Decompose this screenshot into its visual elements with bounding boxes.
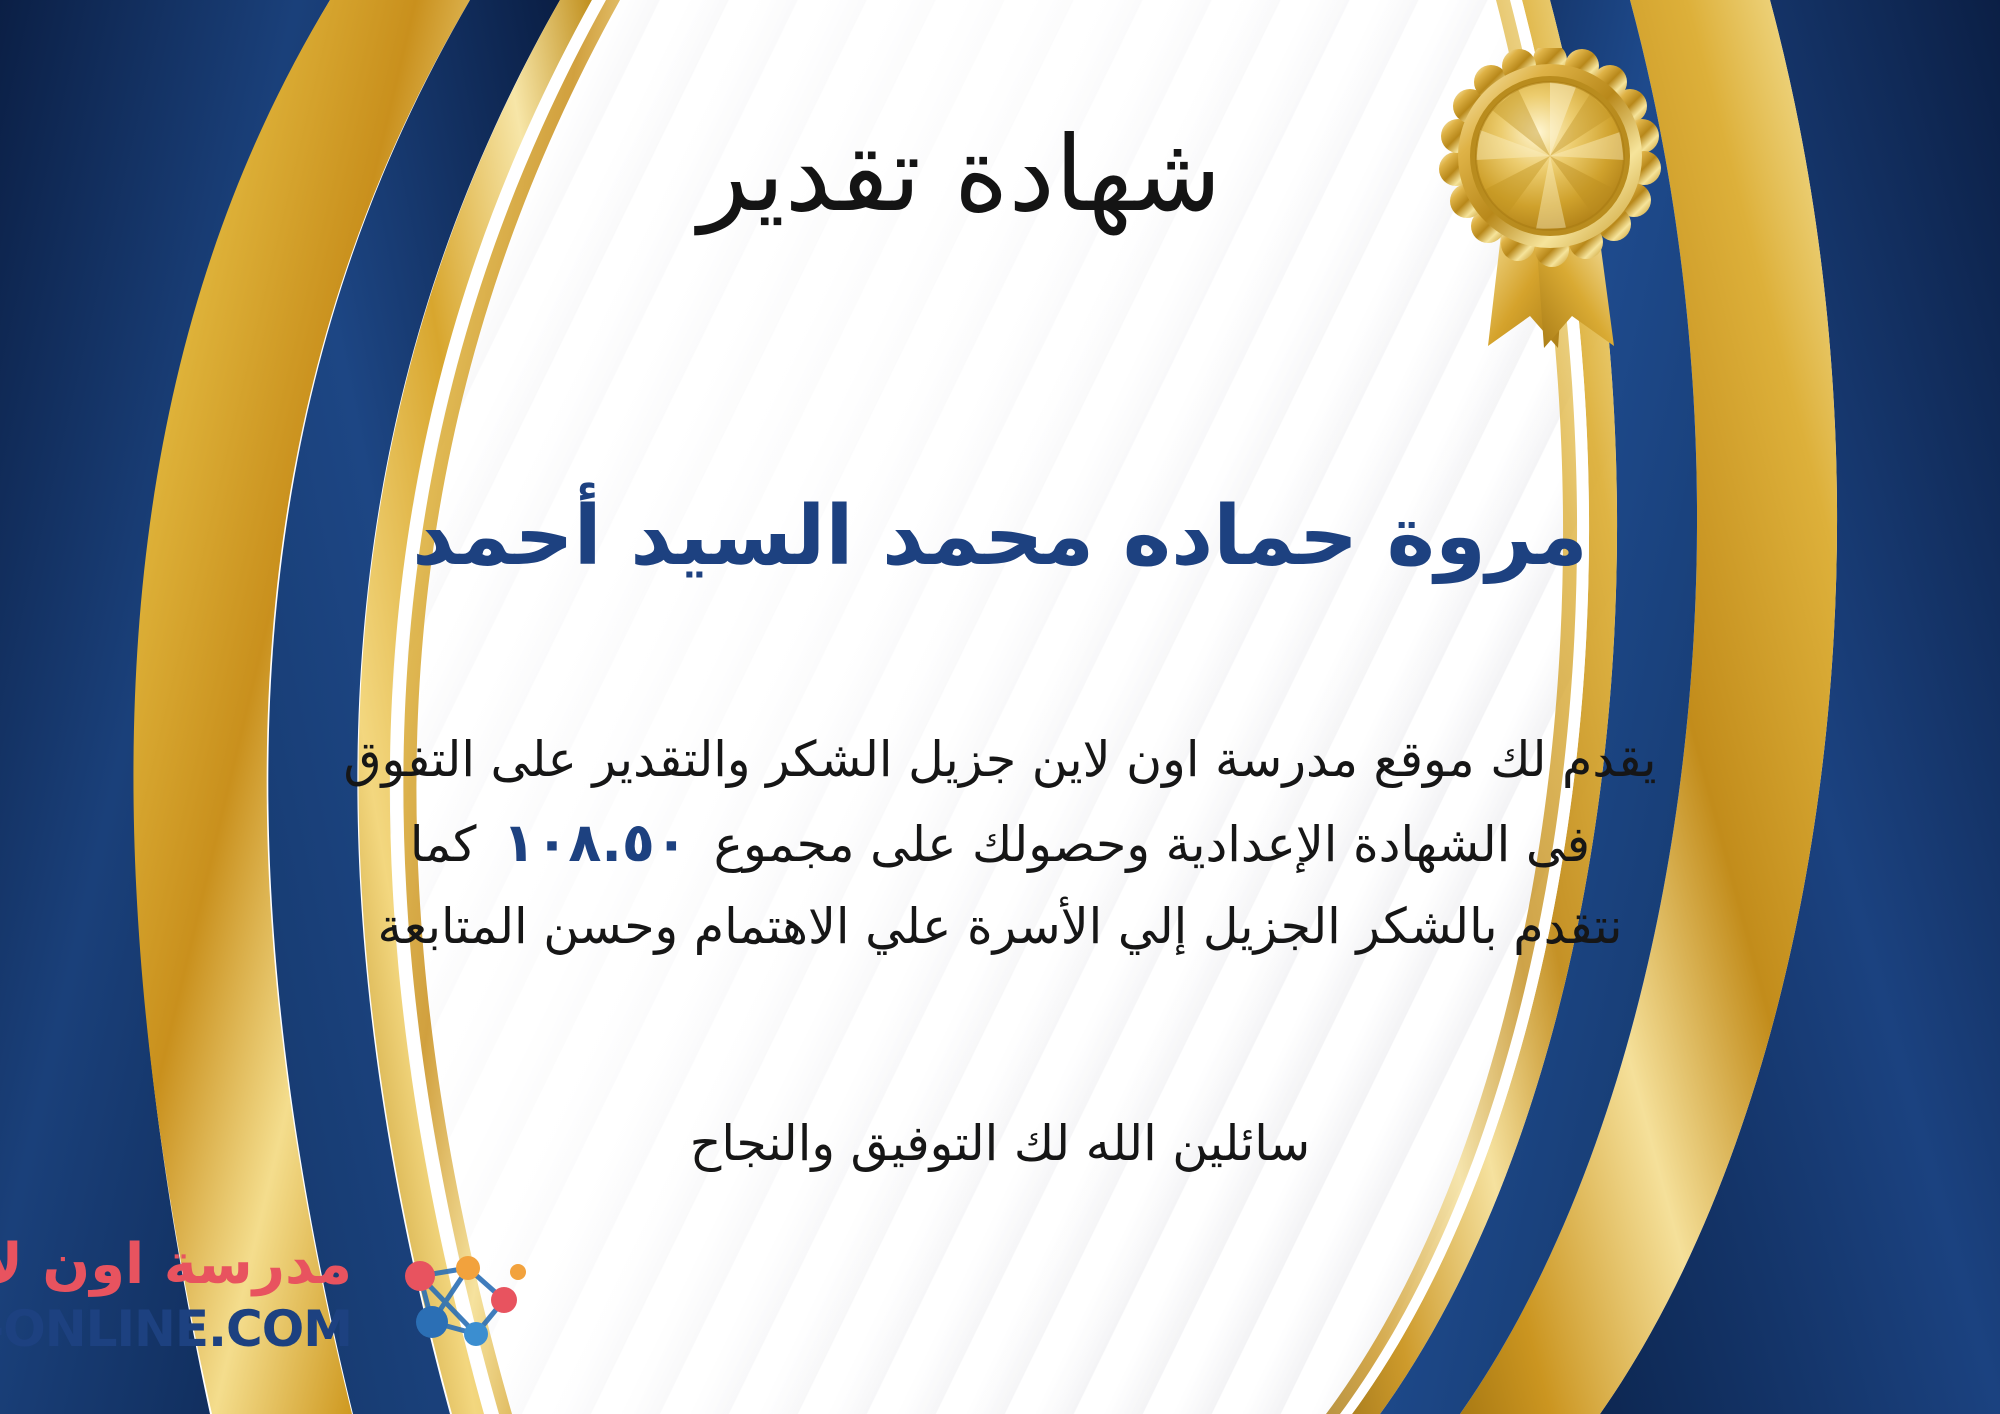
body-line-3: نتقدم بالشكر الجزيل إلي الأسرة علي الاهت… bbox=[40, 887, 1960, 966]
page-title: شهادة تقدير bbox=[150, 120, 1850, 229]
body-line-2-prefix: فى الشهادة الإعدادية وحصولك على مجموع bbox=[714, 816, 1590, 873]
total-score-value: ١٠٨.٥٠ bbox=[476, 811, 713, 874]
network-nodes-icon bbox=[372, 1246, 552, 1364]
site-logo[interactable]: مدرسة اون لاين MADRSA-ONLINE.COM bbox=[22, 1230, 582, 1380]
certificate-body: شهادة تقدير مروة حماده محمد السيد أحمد ي… bbox=[150, 0, 1850, 1414]
brand-arabic-name: مدرسة اون لاين bbox=[0, 1232, 352, 1297]
certificate-canvas: شهادة تقدير مروة حماده محمد السيد أحمد ي… bbox=[0, 0, 2000, 1414]
body-line-2: فى الشهادة الإعدادية وحصولك على مجموع١٠٨… bbox=[40, 799, 1960, 886]
appreciation-paragraph: يقدم لك موقع مدرسة اون لاين جزيل الشكر و… bbox=[40, 720, 1960, 966]
body-line-1: يقدم لك موقع مدرسة اون لاين جزيل الشكر و… bbox=[40, 720, 1960, 799]
recipient-name: مروة حماده محمد السيد أحمد bbox=[150, 490, 1850, 584]
brand-website-url: MADRSA-ONLINE.COM bbox=[0, 1300, 352, 1358]
closing-wish: سائلين الله لك التوفيق والنجاح bbox=[150, 1115, 1850, 1172]
body-line-2-suffix: كما bbox=[410, 816, 477, 873]
